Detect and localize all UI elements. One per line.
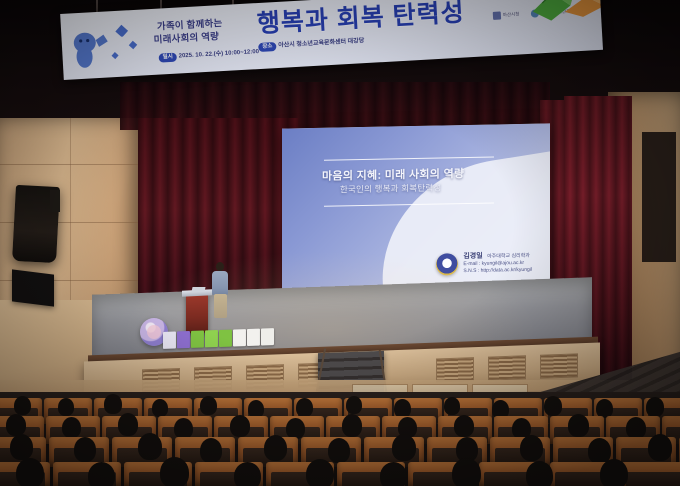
letter-block	[191, 331, 204, 348]
presenter-standing	[210, 262, 232, 324]
letter-block	[177, 331, 190, 348]
wall-mounted-display	[12, 269, 54, 306]
letter-block	[219, 330, 232, 347]
presenter-affiliation-text: 아주대학교 심리학과	[487, 253, 530, 260]
heart-icon	[115, 25, 128, 38]
apron-vent	[540, 353, 578, 378]
letter-block	[233, 329, 246, 346]
origami-orange-icon	[560, 0, 603, 27]
sponsor-logo-1-text: 아산시청	[503, 11, 520, 18]
wall-recess	[642, 132, 676, 262]
lectern	[186, 293, 208, 334]
date-text: 2025. 10. 22.(수) 10:00~12:00	[178, 48, 259, 61]
projection-screen: 마음의 지혜: 미래 사회의 역량 한국인의 행복과 회복탄력성 김경일 아주대…	[282, 123, 550, 294]
apron-vent	[488, 355, 526, 380]
place-text: 아산시 청소년교육문화센터 대강당	[278, 37, 365, 51]
heart-icon	[129, 41, 137, 49]
letter-block	[261, 328, 274, 345]
letter-block	[247, 329, 260, 346]
apron-vent	[436, 357, 474, 382]
slide-top-rule	[324, 157, 494, 161]
presentation-slide: 마음의 지혜: 미래 사회의 역량 한국인의 행복과 회복탄력성 김경일 아주대…	[282, 123, 550, 294]
slide-presenter-block: 김경일 아주대학교 심리학과 E-mail : kyungil@ajou.ac.…	[463, 252, 532, 275]
letter-block	[163, 331, 176, 348]
letter-block	[205, 330, 218, 347]
sponsor-logo-1-icon	[493, 11, 501, 19]
presenter-name-text: 김경일	[463, 253, 482, 260]
date-badge-label: 일시	[159, 53, 178, 63]
blue-heart-mascot-icon	[67, 25, 115, 71]
loudspeaker-bracket	[50, 190, 60, 212]
place-badge-label: 장소	[258, 42, 277, 52]
presenter-head	[216, 262, 224, 271]
presenter-site: S.N.S : http://data.ac.kr/kyungil	[463, 267, 532, 275]
auditorium-photo: 가족이 함께하는 미래사회의 역량 행복과 회복 탄력성 일시 2025. 10…	[0, 0, 680, 486]
banner-main-title: 행복과 회복 탄력성	[256, 0, 465, 39]
seat	[621, 462, 680, 486]
presenter-legs	[214, 294, 227, 318]
banner-subtitle-line2: 미래사회의 역량	[153, 31, 219, 47]
laptop-on-lectern	[191, 287, 205, 292]
presenter-torso	[212, 271, 228, 295]
